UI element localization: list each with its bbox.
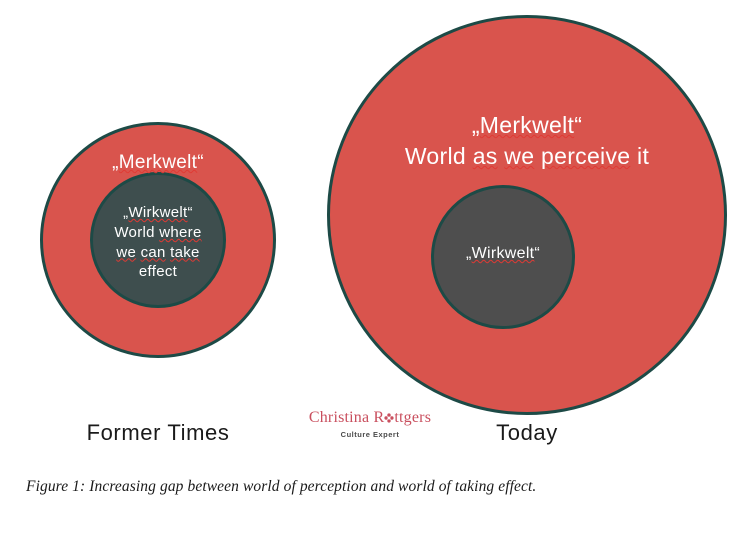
brand-name-after: ttgers [394,409,431,426]
era-caption-today: Today [427,420,627,446]
brand-logo: Christina R ttgers Culture Expert [295,410,445,439]
diagram-stage: „Merkwelt“ „Wirkwelt“ World where we can… [0,0,750,460]
flower-icon [384,410,394,426]
brand-name: Christina R ttgers [295,410,445,426]
figure-root: „Merkwelt“ „Wirkwelt“ World where we can… [0,0,750,534]
figure-caption: Figure 1: Increasing gap between world o… [26,478,726,496]
wirkwelt-circle-former-times [90,172,226,308]
wirkwelt-circle-today [431,185,575,329]
era-caption-former-times: Former Times [40,420,276,446]
brand-name-before: Christina R [309,409,385,426]
brand-tagline: Culture Expert [295,431,445,439]
